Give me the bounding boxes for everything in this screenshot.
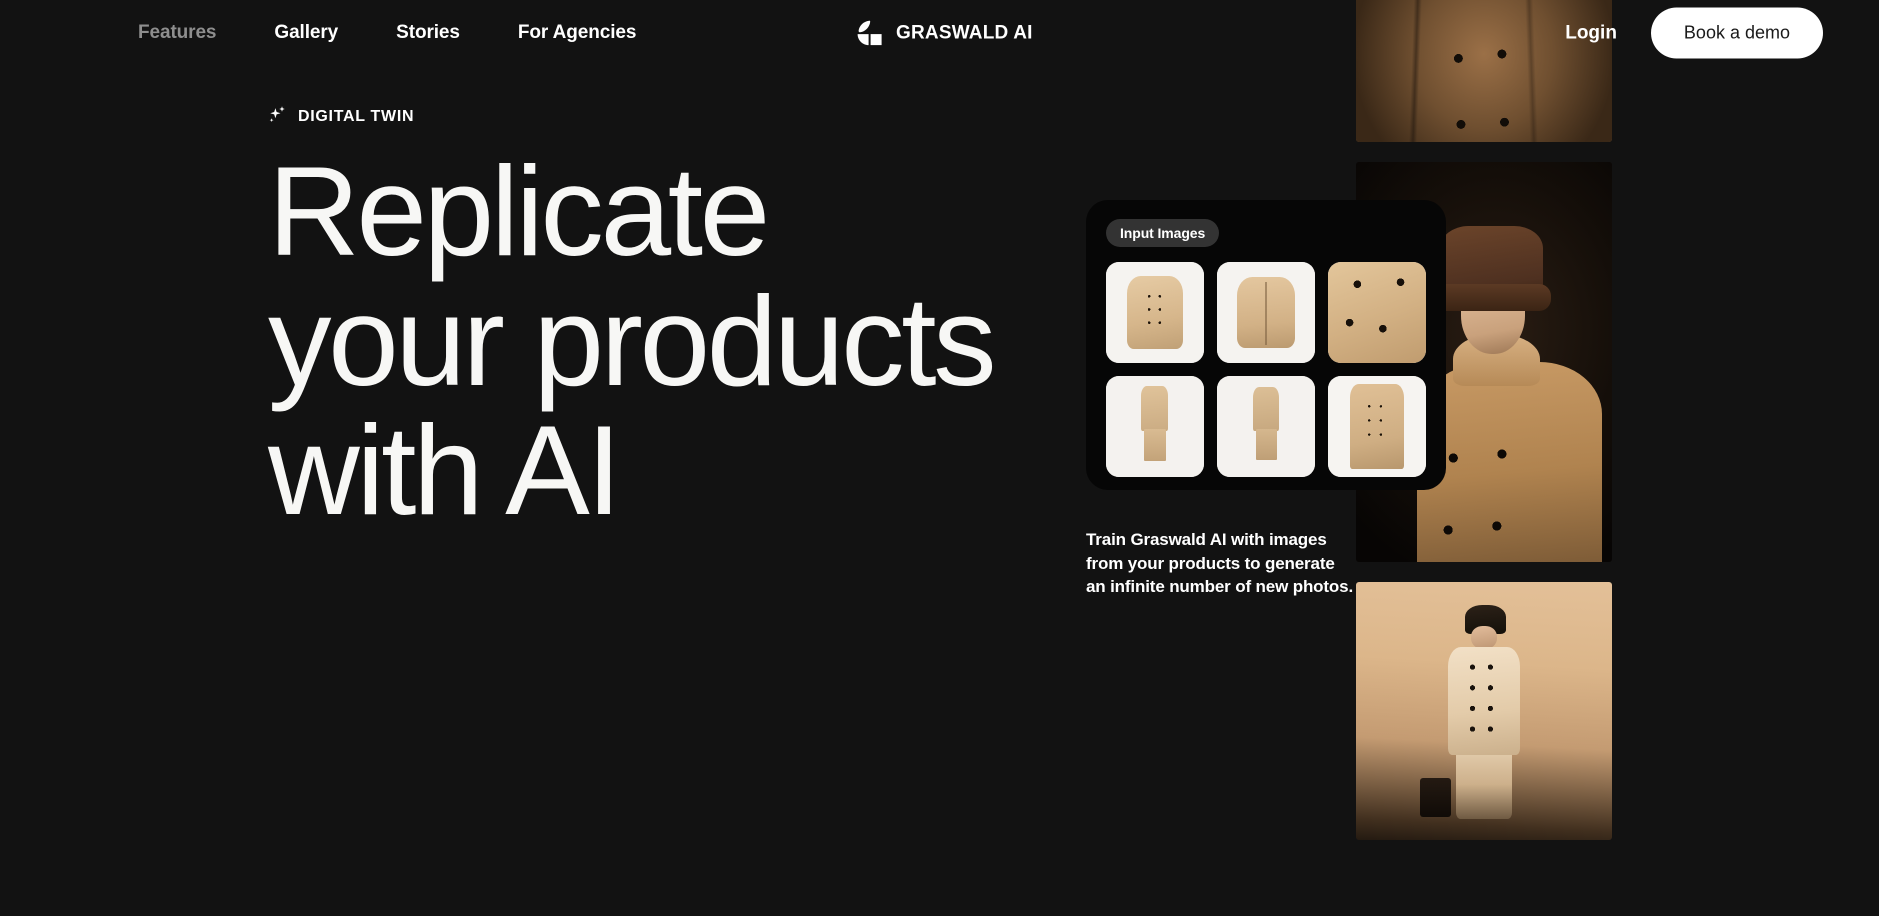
nav-actions: Login Book a demo [1565, 8, 1823, 59]
hero-eyebrow: DIGITAL TWIN [268, 105, 1028, 129]
thumb-art [1328, 376, 1426, 477]
nav-item-features[interactable]: Features [138, 22, 216, 44]
primary-nav-links: Features Gallery Stories For Agencies [138, 22, 636, 44]
input-thumbnail-grid [1106, 262, 1426, 477]
thumb-art [1217, 262, 1315, 363]
input-thumbnail-suit-front[interactable] [1106, 376, 1204, 477]
brand-logo[interactable]: GRASWALD AI [856, 20, 1033, 47]
nav-item-for-agencies[interactable]: For Agencies [518, 22, 636, 44]
page-title: Replicate your products with AI [268, 147, 1028, 536]
brand-name: GRASWALD AI [896, 22, 1033, 44]
input-thumbnail-suit-back[interactable] [1217, 376, 1315, 477]
thumb-art [1106, 262, 1204, 363]
hero-content: DIGITAL TWIN Replicate your products wit… [268, 105, 1028, 536]
thumb-art [1106, 376, 1204, 477]
thumb-art [1217, 376, 1315, 477]
graswald-leaf-logo-icon [856, 20, 883, 47]
input-images-card: Input Images [1086, 200, 1446, 490]
fullbody-buttons [1356, 582, 1612, 840]
media-image-model-fullbody [1356, 582, 1612, 840]
photo-model-fullbody [1356, 582, 1612, 840]
sparkle-icon [268, 105, 287, 129]
login-link[interactable]: Login [1565, 22, 1617, 44]
book-a-demo-button[interactable]: Book a demo [1651, 8, 1823, 59]
input-thumbnail-suit-detail[interactable] [1328, 376, 1426, 477]
hero-eyebrow-label: DIGITAL TWIN [298, 108, 414, 126]
input-thumbnail-jacket-back[interactable] [1217, 262, 1315, 363]
thumb-art [1328, 262, 1426, 363]
top-navigation: Features Gallery Stories For Agencies GR… [0, 0, 1879, 66]
input-thumbnail-jacket-front[interactable] [1106, 262, 1204, 363]
nav-item-gallery[interactable]: Gallery [274, 22, 338, 44]
feature-caption: Train Graswald AI with images from your … [1086, 528, 1358, 599]
hero-page: Features Gallery Stories For Agencies GR… [0, 0, 1879, 916]
nav-item-stories[interactable]: Stories [396, 22, 460, 44]
input-thumbnail-fabric-closeup[interactable] [1328, 262, 1426, 363]
status-badge: Input Images [1106, 219, 1219, 247]
